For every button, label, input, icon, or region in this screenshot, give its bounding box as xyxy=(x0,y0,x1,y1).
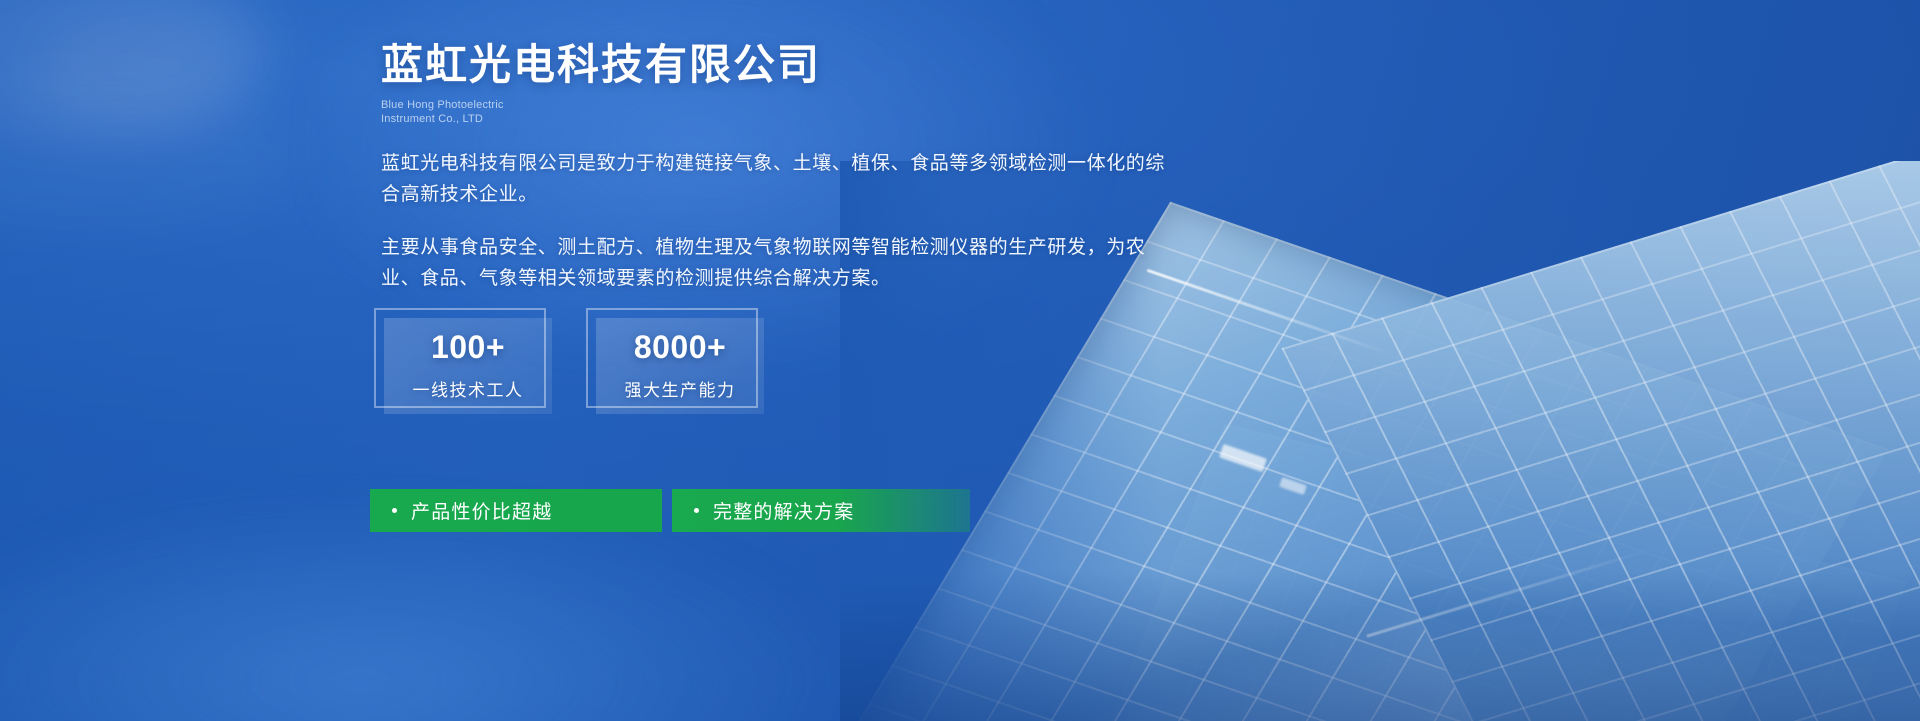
stat-label: 一线技术工人 xyxy=(413,376,524,401)
feature-tag-label: 产品性价比超越 xyxy=(411,497,552,524)
company-name-en-line1: Blue Hong Photoelectric xyxy=(381,98,821,112)
stat-value: 100+ xyxy=(431,331,505,363)
feature-tag-label: 完整的解决方案 xyxy=(713,497,854,524)
feature-tag-value[interactable]: 产品性价比超越 xyxy=(370,489,662,532)
intro-paragraph-1: 蓝虹光电科技有限公司是致力于构建链接气象、土壤、植保、食品等多领域检测一体化的综… xyxy=(381,148,1181,210)
company-name-en-line2: Instrument Co., LTD xyxy=(381,112,821,126)
feature-tags: 产品性价比超越 完整的解决方案 xyxy=(370,489,970,532)
stats-row: 100+ 一线技术工人 8000+ 强大生产能力 xyxy=(384,318,764,414)
stat-card-capacity: 8000+ 强大生产能力 xyxy=(596,318,764,414)
company-name-cn: 蓝虹光电科技有限公司 xyxy=(381,41,821,89)
stat-card-workers: 100+ 一线技术工人 xyxy=(384,318,552,414)
stat-value: 8000+ xyxy=(634,331,726,363)
hero-banner: 蓝虹光电科技有限公司 Blue Hong Photoelectric Instr… xyxy=(0,0,1920,721)
feature-tag-solution[interactable]: 完整的解决方案 xyxy=(672,489,970,532)
intro-paragraphs: 蓝虹光电科技有限公司是致力于构建链接气象、土壤、植保、食品等多领域检测一体化的综… xyxy=(381,148,1181,294)
intro-paragraph-2: 主要从事食品安全、测土配方、植物生理及气象物联网等智能检测仪器的生产研发，为农业… xyxy=(381,232,1181,294)
stat-label: 强大生产能力 xyxy=(625,376,736,401)
company-name-en: Blue Hong Photoelectric Instrument Co., … xyxy=(381,98,821,126)
bullet-icon xyxy=(392,508,397,513)
brand-block: 蓝虹光电科技有限公司 Blue Hong Photoelectric Instr… xyxy=(381,41,821,126)
bullet-icon xyxy=(694,508,699,513)
